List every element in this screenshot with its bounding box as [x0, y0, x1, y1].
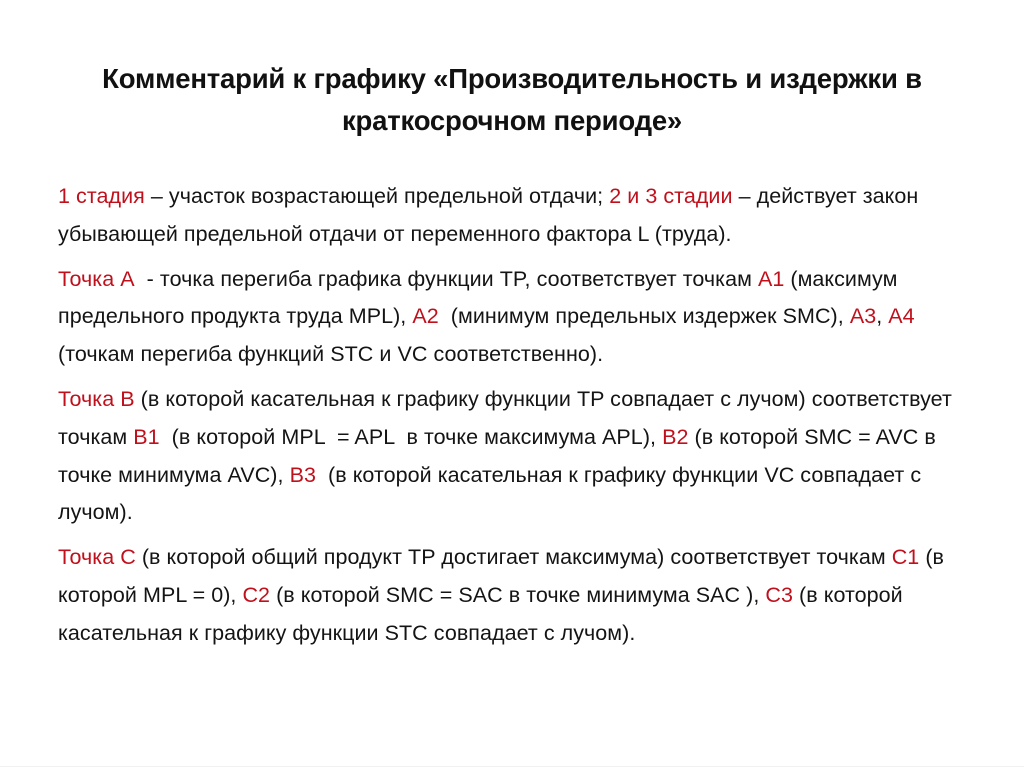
text-run: (в которой MPL = APL в точке максимума A…	[160, 425, 662, 449]
highlighted-term: С1	[892, 545, 920, 569]
highlighted-term: В1	[133, 425, 159, 449]
page-title: Комментарий к графику «Производительност…	[78, 58, 946, 142]
text-run: (в которой общий продукт TP достигает ма…	[136, 545, 892, 569]
highlighted-term: 1 стадия	[58, 184, 145, 208]
slide-canvas: Комментарий к графику «Производительност…	[0, 0, 1024, 767]
highlighted-term: Точка С	[58, 545, 136, 569]
highlighted-term: В2	[662, 425, 688, 449]
highlighted-term: С3	[765, 583, 793, 607]
text-run: ,	[876, 304, 888, 328]
highlighted-term: В3	[290, 463, 316, 487]
paragraph-point-c: Точка С (в которой общий продукт TP дост…	[58, 539, 968, 652]
paragraph-point-a: Точка А - точка перегиба графика функции…	[58, 261, 968, 374]
text-run: (в которой SMC = SAC в точке минимума SA…	[270, 583, 765, 607]
highlighted-term: А4	[888, 304, 914, 328]
text-run: – участок возрастающей предельной отдачи…	[145, 184, 609, 208]
highlighted-term: А3	[850, 304, 876, 328]
highlighted-term: А1	[758, 267, 784, 291]
highlighted-term: Точка А	[58, 267, 135, 291]
text-run: - точка перегиба графика функции TP, соо…	[135, 267, 758, 291]
text-run: (минимум предельных издержек SMC),	[439, 304, 850, 328]
paragraph-stages: 1 стадия – участок возрастающей предельн…	[58, 178, 968, 254]
paragraph-point-b: Точка В (в которой касательная к графику…	[58, 381, 968, 532]
highlighted-term: А2	[412, 304, 438, 328]
highlighted-term: 2 и 3 стадии	[609, 184, 732, 208]
body-text-block: 1 стадия – участок возрастающей предельн…	[58, 178, 968, 653]
highlighted-term: С2	[242, 583, 270, 607]
highlighted-term: Точка В	[58, 387, 135, 411]
